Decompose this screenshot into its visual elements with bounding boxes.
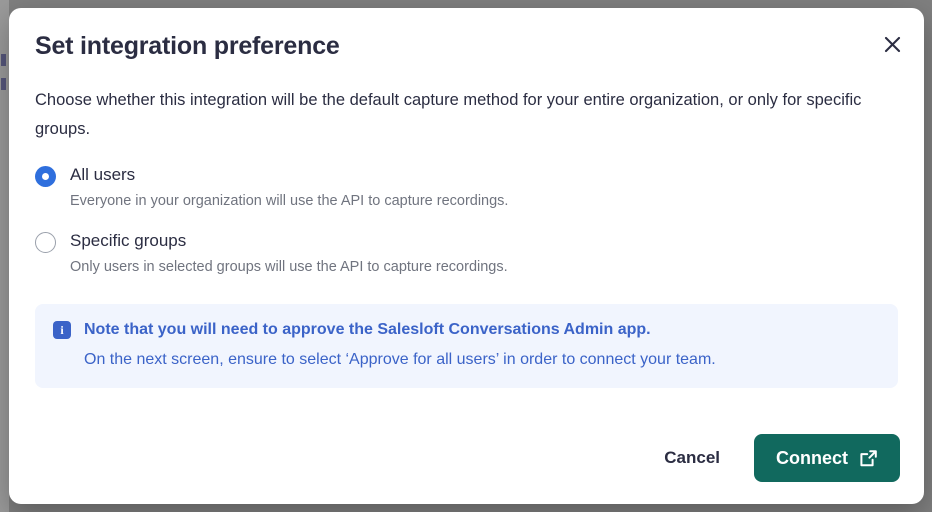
- background-artifact: [1, 54, 6, 66]
- dialog-footer: Cancel Connect: [650, 434, 900, 482]
- info-note-title-row: i Note that you will need to approve the…: [53, 319, 880, 341]
- radio-icon-selected[interactable]: [35, 166, 56, 187]
- radio-option-all-users-sublabel: Everyone in your organization will use t…: [70, 191, 508, 212]
- capture-method-radio-group: All users Everyone in your organization …: [35, 164, 898, 278]
- radio-option-specific-groups-sublabel: Only users in selected groups will use t…: [70, 257, 508, 278]
- info-icon: i: [53, 321, 71, 339]
- background-artifact: [1, 78, 6, 90]
- info-note-banner: i Note that you will need to approve the…: [35, 304, 898, 388]
- radio-option-all-users-label: All users: [70, 165, 135, 184]
- close-icon: [884, 36, 901, 53]
- close-button[interactable]: [876, 28, 908, 60]
- radio-option-specific-groups[interactable]: Specific groups Only users in selected g…: [35, 230, 898, 278]
- radio-option-specific-groups-label: Specific groups: [70, 231, 186, 250]
- connect-button[interactable]: Connect: [754, 434, 900, 482]
- radio-icon-unselected[interactable]: [35, 232, 56, 253]
- cancel-button[interactable]: Cancel: [650, 438, 734, 478]
- info-note-title: Note that you will need to approve the S…: [84, 319, 651, 341]
- dialog-description: Choose whether this integration will be …: [35, 86, 898, 144]
- connect-button-label: Connect: [776, 447, 848, 469]
- set-integration-preference-dialog: Set integration preference Choose whethe…: [9, 8, 924, 504]
- page-title: Set integration preference: [35, 30, 898, 62]
- info-note-body: On the next screen, ensure to select ‘Ap…: [84, 349, 880, 371]
- background-page: [0, 0, 9, 512]
- external-link-icon: [859, 449, 878, 468]
- dialog-header: Set integration preference: [9, 8, 924, 62]
- radio-option-all-users[interactable]: All users Everyone in your organization …: [35, 164, 898, 212]
- radio-option-all-users-texts: All users Everyone in your organization …: [70, 164, 508, 212]
- dialog-body: Choose whether this integration will be …: [9, 86, 924, 388]
- radio-option-specific-groups-texts: Specific groups Only users in selected g…: [70, 230, 508, 278]
